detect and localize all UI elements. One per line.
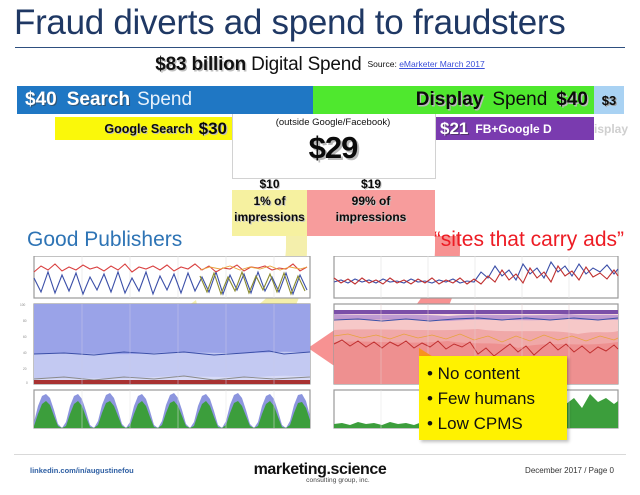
impressions-right-unit: impressions	[307, 209, 435, 225]
google-search-label: Google Search	[104, 122, 192, 136]
slide-root: Fraud diverts ad spend to fraudsters $83…	[0, 0, 640, 495]
callout-bullet-1: • No content	[427, 361, 567, 386]
search-bold-word: Search	[67, 89, 130, 111]
subtitle-amount: $83 billion	[155, 54, 246, 75]
callout-box: • No content • Few humans • Low CPMS	[419, 356, 567, 440]
impressions-left-percent: 1% of	[232, 193, 307, 209]
svg-text:40: 40	[23, 351, 27, 355]
middle-amount: $29	[232, 130, 434, 166]
page-title: Fraud diverts ad spend to fraudsters	[14, 2, 626, 44]
impressions-right-box: 99% of impressions	[307, 190, 435, 236]
bar-search-spend: $40 Search Spend	[17, 86, 313, 114]
footer-divider	[14, 454, 626, 455]
other-display-amount: $3	[602, 93, 616, 108]
impressions-left-box: 1% of impressions	[232, 190, 307, 236]
display-bold-word: Display	[416, 89, 484, 111]
search-light-word: Spend	[137, 89, 192, 111]
bar-display-spend: Display Spend $40	[313, 86, 594, 114]
label-bad-sites: “sites that carry ads”	[434, 228, 624, 252]
impressions-right-percent: 99% of	[307, 193, 435, 209]
callout-bullet-2: • Few humans	[427, 386, 567, 411]
fb-google-label: FB+Google D	[475, 122, 551, 136]
svg-text:0: 0	[26, 381, 28, 385]
fb-google-label-overflow: isplay	[594, 117, 640, 140]
source-link[interactable]: eMarketer March 2017	[399, 59, 485, 69]
impressions-left-unit: impressions	[232, 209, 307, 225]
subtitle: $83 billion Digital Spend Source: eMarke…	[0, 54, 640, 76]
bar-google-search: Google Search $30	[55, 117, 232, 140]
source-prefix: Source:	[368, 59, 397, 69]
label-good-publishers: Good Publishers	[27, 228, 182, 252]
callout-bullet-3: • Low CPMS	[427, 411, 567, 436]
display-amount: $40	[556, 89, 588, 111]
source-note: Source: eMarketer March 2017	[368, 59, 485, 69]
svg-text:80: 80	[23, 319, 27, 323]
middle-note: (outside Google/Facebook)	[232, 117, 434, 128]
subtitle-label: Digital Spend	[251, 54, 361, 75]
footer-brand-sub: consulting group, inc.	[0, 477, 640, 484]
google-search-amount: $30	[199, 119, 227, 139]
impressions-left-amount: $10	[232, 177, 307, 191]
display-light-word: Spend	[492, 89, 547, 111]
search-amount: $40	[25, 89, 57, 111]
svg-text:20: 20	[23, 367, 27, 371]
impressions-right-amount: $19	[307, 177, 435, 191]
chart-good-publishers: 1008060 40200	[14, 256, 312, 431]
fb-google-amount: $21	[440, 119, 468, 139]
svg-text:100: 100	[20, 303, 26, 307]
footer-date-page: December 2017 / Page 0	[525, 466, 614, 475]
title-divider	[15, 47, 625, 48]
bar-fb-google-display: $21 FB+Google D	[434, 117, 594, 140]
svg-text:60: 60	[23, 335, 27, 339]
bar-other-display: $3	[594, 86, 624, 114]
